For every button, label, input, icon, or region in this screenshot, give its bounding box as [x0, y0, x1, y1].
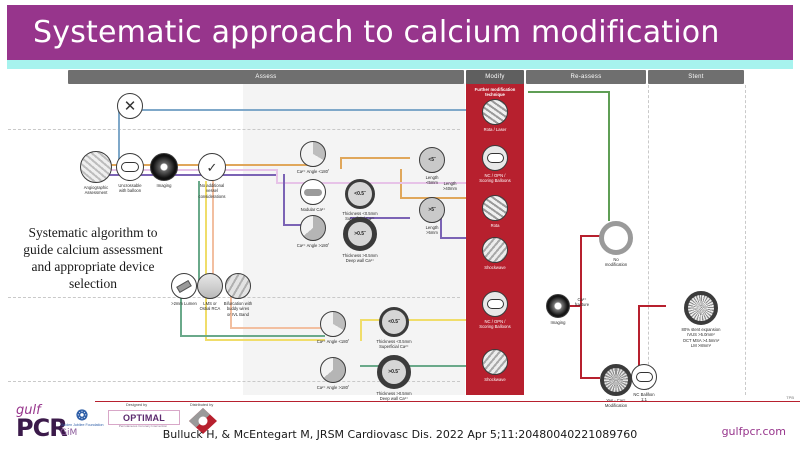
optimal-logo: OPTIMAL: [108, 410, 180, 425]
node-length-over-5mm[interactable]: >5˝ Length >5mm: [400, 197, 464, 236]
optimal-word: OPTIMAL: [123, 413, 165, 423]
column-header-stent: Stent: [648, 70, 744, 84]
designed-by-label: Designed by: [126, 403, 147, 407]
footer-rule: [95, 401, 800, 402]
flow-line-return-green-down: [608, 91, 610, 221]
stent-icon: [684, 291, 718, 325]
accent-strip: [7, 60, 793, 69]
node-ca-angle-under-180-upper[interactable]: Ca²⁺ Angle <180˚: [281, 141, 345, 174]
column-header-assess: Assess: [68, 70, 464, 84]
shockwave-icon-2: [482, 349, 508, 375]
footer-note: TPB: [786, 395, 794, 400]
gjf-mark-icon: ❂: [60, 408, 104, 422]
node-stent-expansion-criteria[interactable]: 80% stent expansion IVUS >5.0mm² OCT MSA…: [660, 291, 742, 348]
divider-top: [8, 129, 460, 130]
imaging-icon: [150, 153, 178, 181]
node-shockwave-2[interactable]: Shockwave: [463, 349, 527, 382]
citation-text: Bulluck H, & McEntegart M, JRSM Cardiova…: [0, 428, 800, 441]
node-thickness-over-05-deep-lower[interactable]: >0.5˝ Thickness >0.5mm Deep wall Ca²⁺: [362, 355, 426, 402]
flow-line-return-green: [528, 91, 610, 93]
thickness-thick-icon: >0.5˝: [343, 217, 377, 251]
check-icon: ✓: [198, 153, 226, 181]
calcium-arc-wide-icon: [300, 215, 326, 241]
thickness-thin-icon: <0.5˝: [345, 179, 375, 209]
cross-icon: ✕: [117, 93, 143, 119]
column-header-reassess: Re-assess: [526, 70, 646, 84]
node-rota-laser[interactable]: Rota / Laser: [463, 99, 527, 132]
node-thickness-under-05-superficial-lower[interactable]: <0.5˝ Thickness <0.5mm Superficial Ca²⁺: [362, 307, 426, 350]
node-no-additional-vessel-considerations[interactable]: ✓ No additional vessel considerations: [180, 153, 244, 199]
flow-line-blue: [128, 109, 466, 111]
website-link[interactable]: gulfpcr.com: [722, 425, 786, 438]
title-bar: Systematic approach to calcium modificat…: [7, 5, 793, 60]
divider-stent-right: [745, 85, 746, 395]
node-length-under-5mm[interactable]: <5˝ Length <5mm: [400, 147, 464, 186]
node-ca-angle-over-180-lower[interactable]: Ca²⁺ Angle >180˚: [301, 357, 365, 390]
node-ca-angle-under-180-lower[interactable]: Ca²⁺ Angle <180˚: [301, 311, 365, 344]
thickness-thin-icon-lower: <0.5˝: [379, 307, 409, 337]
no-modification-icon: [599, 221, 633, 255]
node-nc-balloon-1-1[interactable]: NC Balloon 1:1: [612, 364, 676, 403]
scoring-balloon-icon-2: [482, 291, 508, 317]
node-nc-opn-scoring-balloons-2[interactable]: NC / OPN / Scoring Balloons: [463, 291, 527, 330]
length-long-icon: >5˝: [419, 197, 445, 223]
calcium-arc-icon: [300, 141, 326, 167]
flow-line-pink-riser: [276, 169, 278, 183]
divider-stent-left: [648, 85, 649, 395]
modify-heading: Further modification technique: [466, 87, 524, 98]
node-uncrossable-cross[interactable]: ✕: [98, 93, 162, 119]
calcium-arc-icon-lower: [320, 311, 346, 337]
rota-icon: [482, 99, 508, 125]
column-header-modify: Modify: [466, 70, 524, 84]
node-bifurcation-buddy-wires[interactable]: Bifurcation with buddy wires or IVL Band: [206, 273, 270, 317]
rota-burr-icon: [482, 195, 508, 221]
nodular-calcium-icon: [300, 179, 326, 205]
shockwave-icon: [482, 237, 508, 263]
caption-text: Systematic algorithm to guide calcium as…: [18, 225, 168, 293]
ca-fracture-label: Ca²⁺ fracture: [564, 297, 600, 308]
thickness-thick-icon-lower: >0.5˝: [377, 355, 411, 389]
node-thickness-under-05-superficial-upper[interactable]: <0.5˝ Thickness <0.5mm Superficial Ca²⁺: [328, 179, 392, 222]
node-nc-opn-scoring-balloons-1[interactable]: NC / OPN / Scoring Balloons: [463, 145, 527, 184]
gjf-name: Golden Jubilee Foundation: [60, 423, 104, 427]
golden-jubilee-logo: ❂ Golden Jubilee Foundation: [60, 408, 104, 427]
node-thickness-over-05-deep-upper[interactable]: >0.5˝ Thickness >0.5mm Deep wall Ca²⁺: [328, 217, 392, 264]
bifurcation-icon: [225, 273, 251, 299]
scoring-balloon-icon: [482, 145, 508, 171]
node-no-modification[interactable]: No modification: [584, 221, 648, 268]
calcium-arc-wide-icon-lower: [320, 357, 346, 383]
length-short-icon: <5˝: [419, 147, 445, 173]
node-rota[interactable]: Rota: [463, 195, 527, 228]
nc-balloon-icon: [631, 364, 657, 390]
page-title: Systematic approach to calcium modificat…: [7, 15, 720, 50]
node-shockwave-1[interactable]: Shockwave: [463, 237, 527, 270]
